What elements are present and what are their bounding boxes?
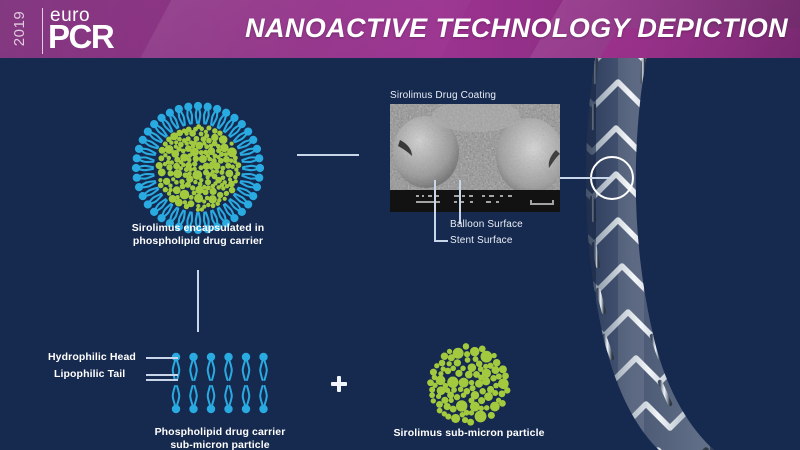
connector-sem-to-stent xyxy=(560,177,612,179)
label-lipophilic-tail: Lipophilic Tail xyxy=(54,368,125,380)
liposome-caption-line2: phospholipid drug carrier xyxy=(118,235,278,248)
connector-liposome-to-sem xyxy=(297,154,359,156)
callout-balloon-surface: Balloon Surface xyxy=(450,219,523,230)
header-banner: 2019 euro PCR NANOACTIVE TECHNOLOGY DEPI… xyxy=(0,0,800,58)
liposome-caption-line1: Sirolimus encapsulated in xyxy=(118,222,278,235)
slide-title: NANOACTIVE TECHNOLOGY DEPICTION xyxy=(240,13,788,44)
bilayer-caption-line2: sub-micron particle xyxy=(140,439,300,450)
leader-stent-surface-vertical xyxy=(434,180,436,241)
europcr-logo[interactable]: 2019 euro PCR xyxy=(12,4,137,56)
plus-icon xyxy=(331,376,347,392)
logo-year: 2019 xyxy=(11,11,28,46)
slide-canvas: 2019 euro PCR NANOACTIVE TECHNOLOGY DEPI… xyxy=(0,0,800,450)
logo-divider xyxy=(42,8,43,54)
logo-pcr-text: PCR xyxy=(48,20,113,54)
liposome-caption: Sirolimus encapsulated in phospholipid d… xyxy=(118,222,278,248)
leader-balloon-surface-vertical xyxy=(459,180,461,224)
connector-liposome-to-bilayer xyxy=(197,270,199,332)
bilayer-caption: Phospholipid drug carrier sub-micron par… xyxy=(140,426,300,450)
leader-lipophilic-tail-b xyxy=(146,379,178,381)
leader-hydrophilic-head xyxy=(146,357,178,359)
stent-illustration xyxy=(560,0,800,450)
particle-caption: Sirolimus sub-micron particle xyxy=(379,427,559,440)
sirolimus-particle-cluster xyxy=(424,340,514,430)
phospholipid-bilayer-diagram xyxy=(168,352,273,414)
bilayer-caption-line1: Phospholipid drug carrier xyxy=(140,426,300,439)
sem-title: Sirolimus Drug Coating xyxy=(390,90,496,101)
liposome-diagram xyxy=(128,98,268,238)
leader-lipophilic-tail-a xyxy=(146,374,178,376)
plus-icon-horizontal xyxy=(331,382,347,386)
sem-micrograph-image xyxy=(390,104,560,212)
leader-stent-surface-elbow xyxy=(434,240,448,242)
label-hydrophilic-head: Hydrophilic Head xyxy=(48,351,136,363)
callout-stent-surface: Stent Surface xyxy=(450,235,513,246)
